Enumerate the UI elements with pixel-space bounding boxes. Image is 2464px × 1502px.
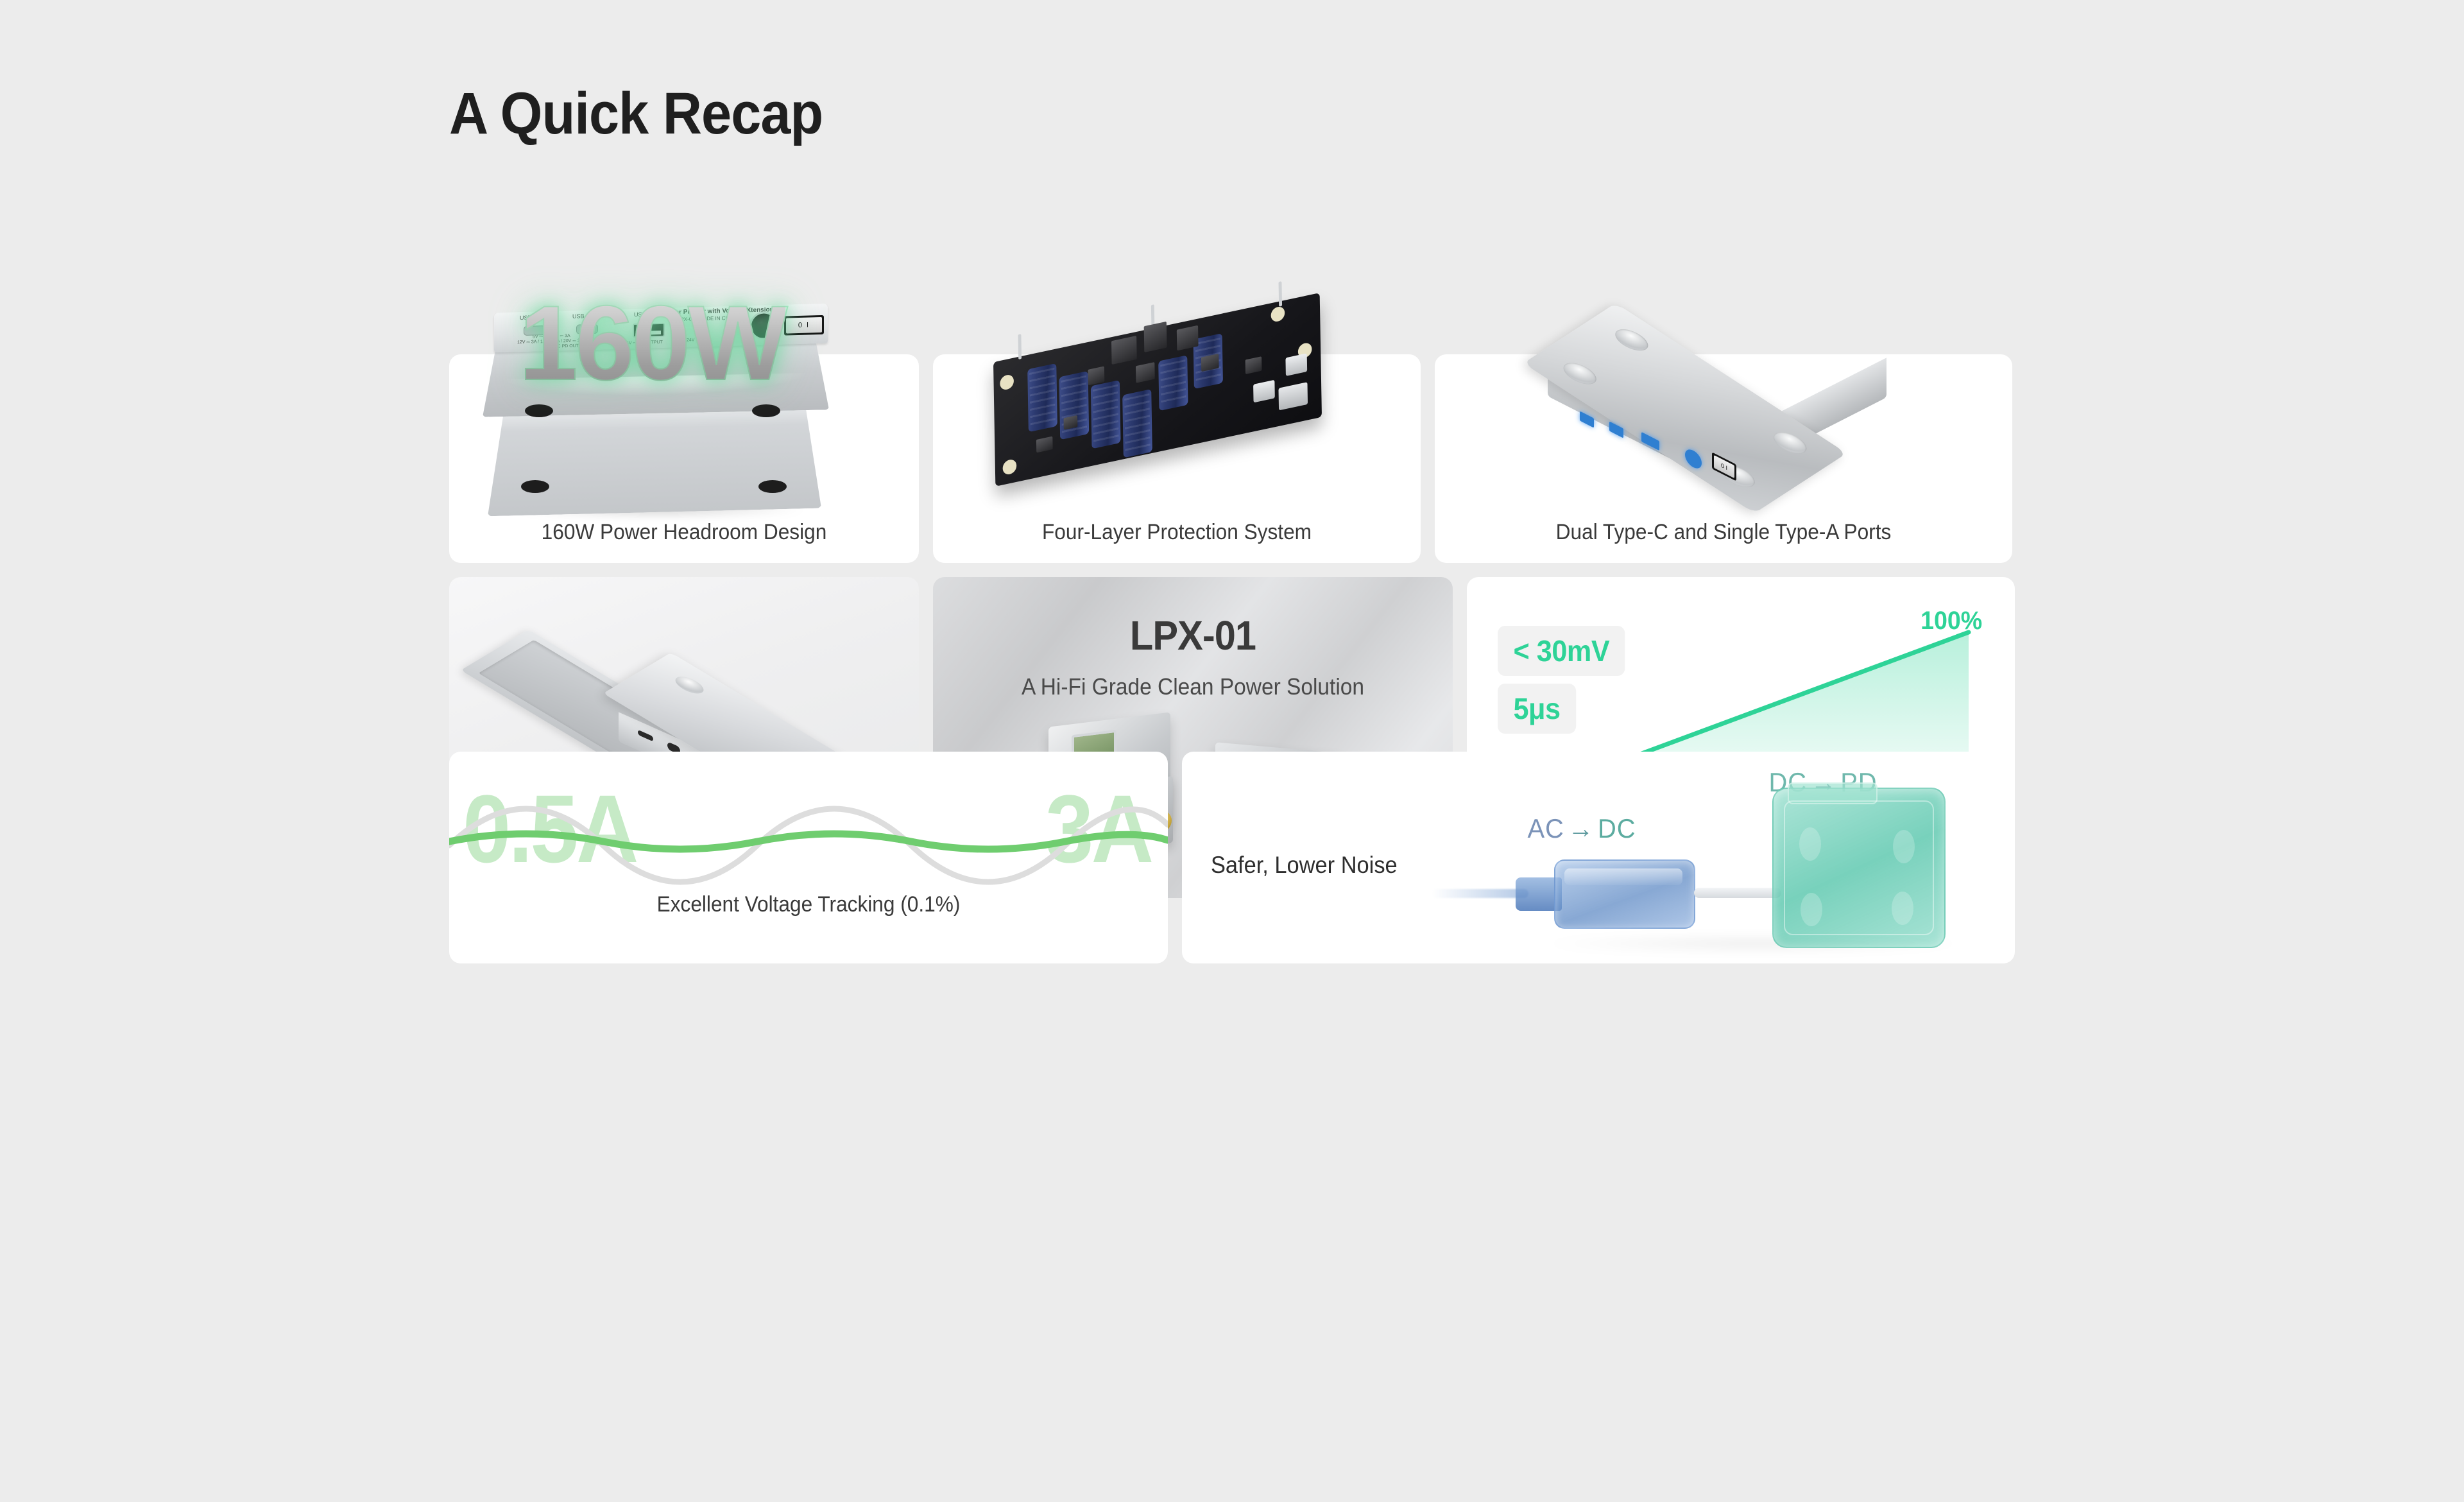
pcb-usb-c-port-2 bbox=[1285, 353, 1307, 376]
usb-c1-port bbox=[524, 325, 545, 336]
pcb-board-image bbox=[952, 303, 1401, 502]
hero-title: LPX-01 bbox=[951, 612, 1434, 659]
feature-grid: 160W USB-C1 USB-C2 USB-A Power Purifier … bbox=[449, 354, 2015, 912]
ac-cord bbox=[1432, 889, 1528, 898]
power-purifier-device-image: USB-C1 USB-C2 USB-A Power Purifier with … bbox=[483, 308, 842, 520]
feature-row-2: Metal Shielded Enclosure LPX-01 A Hi-Fi … bbox=[449, 577, 2015, 738]
label-ac-to-dc: AC→DC bbox=[1527, 813, 1636, 844]
card-voltage-tracking[interactable]: 0.5A 3A Excellent Voltage Tracking (0.1%… bbox=[449, 752, 1168, 963]
recap-page: A Quick Recap 160W USB-C1 USB-C2 bbox=[0, 0, 2464, 1502]
feature-row-1: 160W USB-C1 USB-C2 USB-A Power Purifier … bbox=[449, 354, 2015, 563]
pcb-usb-c-port-1 bbox=[1253, 380, 1275, 403]
chart-label-end: 100% bbox=[1921, 607, 1982, 635]
card-caption: Safer, Lower Noise bbox=[1211, 852, 1398, 879]
badge-response-time: 5μs bbox=[1498, 684, 1576, 734]
label-ac: AC bbox=[1527, 813, 1564, 843]
label-product-model: LPX-01 | MADE IN CHINA bbox=[678, 315, 738, 323]
card-safer-lower-noise[interactable]: Safer, Lower Noise AC→DC DC→PD bbox=[1182, 752, 2015, 963]
usb-c2-port bbox=[576, 324, 598, 334]
card-four-layer-protection[interactable]: Four-Layer Protection System bbox=[933, 354, 1421, 563]
card-caption: Dual Type-C and Single Type-A Ports bbox=[1455, 520, 1992, 545]
badge-ripple-voltage: < 30mV bbox=[1498, 626, 1625, 676]
label-typec-footer: TYPE-C PD OUTPUT bbox=[544, 343, 588, 349]
enclosure-iso-image bbox=[1473, 293, 1974, 505]
label-usb-c2: USB-C2 bbox=[572, 313, 594, 320]
usb-a-port bbox=[633, 323, 665, 338]
din-connector bbox=[749, 311, 778, 340]
card-ports[interactable]: Dual Type-C and Single Type-A Ports bbox=[1435, 354, 2012, 563]
label-usb-c1: USB-C1 bbox=[520, 314, 541, 321]
pcb-usb-a-port bbox=[1278, 382, 1308, 410]
hero-subtitle: A Hi-Fi Grade Clean Power Solution bbox=[951, 673, 1434, 700]
tracking-wave-svg bbox=[449, 786, 1168, 902]
card-caption: Excellent Voltage Tracking (0.1%) bbox=[474, 892, 1143, 917]
power-rocker-switch bbox=[784, 315, 824, 336]
label-usba-spec: 5V ⎓ 3A OUTPUT bbox=[626, 340, 663, 347]
card-caption: 160W Power Headroom Design bbox=[466, 520, 903, 545]
arrow-icon: → bbox=[1564, 813, 1598, 843]
card-caption: Four-Layer Protection System bbox=[950, 520, 1404, 545]
ac-dc-adapter bbox=[1554, 859, 1695, 929]
label-usb-a: USB-A bbox=[634, 311, 652, 318]
label-dc: DC bbox=[1598, 813, 1636, 843]
pd-power-unit bbox=[1772, 788, 1946, 948]
label-din-spec: 24V ⎓ 6.5A bbox=[687, 338, 710, 343]
dc-cable bbox=[1694, 888, 1781, 898]
card-power-headroom[interactable]: 160W USB-C1 USB-C2 USB-A Power Purifier … bbox=[449, 354, 919, 563]
feature-row-3: 0.5A 3A Excellent Voltage Tracking (0.1%… bbox=[449, 752, 2015, 912]
page-title: A Quick Recap bbox=[449, 80, 823, 148]
